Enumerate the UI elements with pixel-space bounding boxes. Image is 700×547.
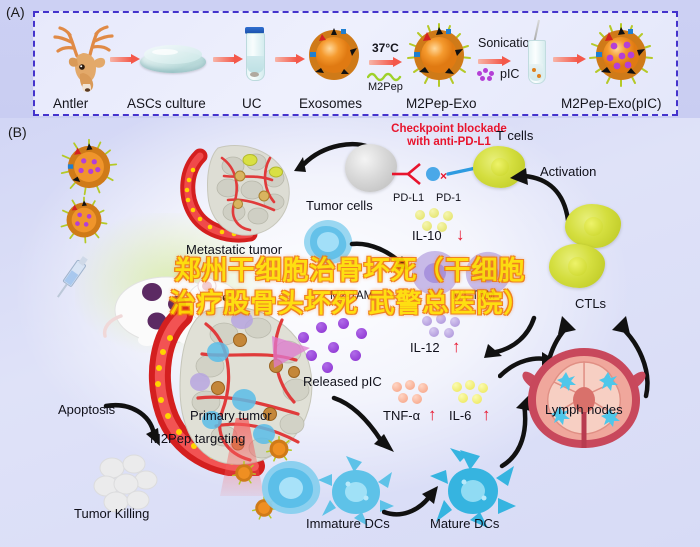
checkpoint-line-1: Checkpoint blockade (391, 123, 507, 135)
targeted-macrophage-icon (258, 458, 324, 518)
label-mature-dcs: Mature DCs (430, 516, 499, 531)
petri-dish-icon (140, 45, 206, 75)
temperature-label: 37°C (372, 41, 399, 55)
label-m2pep-exo-pic: M2Pep-Exo(pIC) (561, 96, 662, 111)
ctl-cell-1-nucleus (584, 217, 603, 236)
process-arrow-3 (275, 55, 305, 64)
pic-label: pIC (500, 67, 519, 81)
ctl-cell-2-nucleus (568, 257, 587, 276)
il-10-direction-arrow: ↓ (456, 226, 465, 243)
label-metastatic-tumor: Metastatic tumor (186, 242, 282, 257)
il6-particles (452, 380, 494, 408)
label-m2pep-exo: M2Pep-Exo (406, 96, 477, 111)
label-il-6: IL-6 (449, 408, 471, 423)
m2pep-label: M2Pep (368, 81, 403, 93)
label-m2pep-targeting: M2Pep targeting (150, 431, 245, 446)
ultracentrifuge-tube-icon (244, 27, 266, 85)
free-exosome-1 (60, 138, 118, 196)
svg-text:×: × (440, 169, 447, 183)
label-tnf-alpha: TNF-α (383, 408, 420, 423)
arrow-to-m2-tam (348, 238, 414, 278)
panel-a-letter: (A) (6, 4, 25, 20)
il-12-direction-arrow: ↑ (452, 338, 461, 355)
label-m1-tam: M1-TAM (452, 290, 495, 302)
process-arrow-1 (110, 55, 140, 64)
process-arrow-6 (553, 55, 587, 64)
label-lymph-nodes: Lymph nodes (545, 402, 623, 417)
label-antler: Antler (53, 96, 88, 111)
lymph-node-icon (518, 344, 650, 454)
label-tumor-killing: Tumor Killing (74, 506, 149, 521)
label-primary-tumor: Primary tumor (190, 408, 272, 423)
il-6-direction-arrow: ↑ (482, 406, 491, 423)
label-immature-dcs: Immature DCs (306, 516, 390, 531)
released-pic-particles (298, 318, 370, 372)
m2pep-exosome-icon (406, 22, 472, 88)
label-uc: UC (242, 96, 262, 111)
m2pep-exosome-pic-icon (588, 22, 654, 88)
syringe-icon (46, 256, 88, 312)
label-apoptosis: Apoptosis (58, 402, 115, 417)
sonication-tube-icon (524, 26, 550, 88)
exosome-icon (305, 26, 363, 84)
label-ctls: CTLs (575, 296, 606, 311)
tnf-alpha-direction-arrow: ↑ (428, 406, 437, 423)
process-arrow-5 (478, 57, 512, 66)
tnf-alpha-particles (392, 380, 434, 408)
label-exosomes: Exosomes (299, 96, 362, 111)
label-pd-l1: PD-L1 (393, 192, 424, 204)
panel-b: (B) (0, 118, 700, 547)
pic-particles-icon (477, 68, 497, 82)
label-pd-1: PD-1 (436, 192, 461, 204)
figure-root: (A) (0, 0, 700, 547)
label-ascs-culture: ASCs culture (127, 96, 206, 111)
free-exosome-2 (60, 196, 108, 244)
process-arrow-4 (369, 58, 403, 67)
label-il-10: IL-10 (412, 228, 442, 243)
label-activation: Activation (540, 164, 596, 179)
label-t-cells: T cells (496, 128, 533, 143)
label-tumor-cells: Tumor cells (306, 198, 373, 213)
label-released-pic: Released pIC (303, 374, 382, 389)
checkpoint-line-2: with anti-PD-L1 (407, 136, 491, 148)
panel-b-letter: (B) (8, 124, 27, 140)
label-m2-tam: M2-TAM (330, 290, 373, 302)
targeting-exosome-2 (232, 461, 256, 485)
process-arrow-2 (213, 55, 243, 64)
label-il-12: IL-12 (410, 340, 440, 355)
panel-a: (A) (0, 0, 700, 118)
